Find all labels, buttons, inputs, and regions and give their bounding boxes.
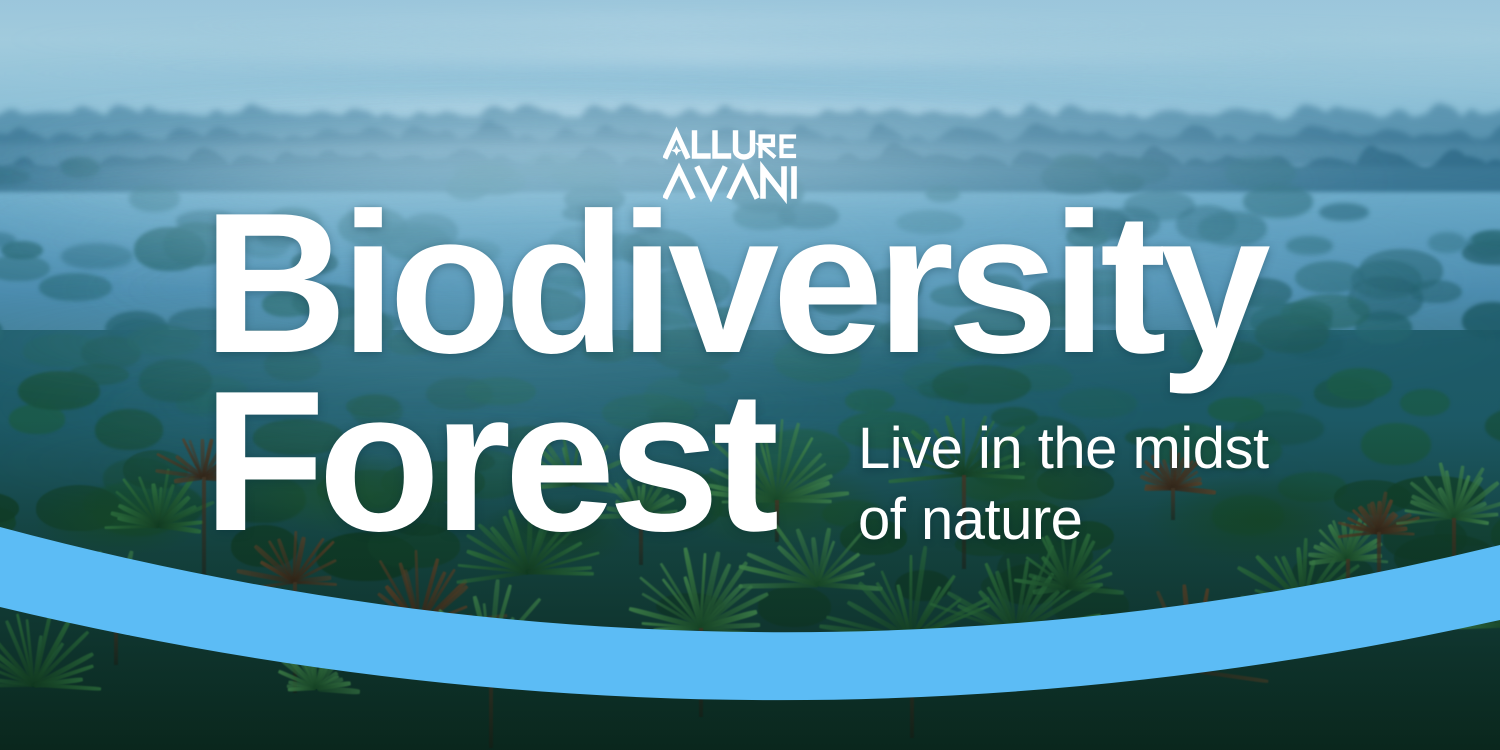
subtitle-line-1: Live in the midst xyxy=(858,414,1269,485)
subtitle-line-2: of nature xyxy=(858,485,1269,556)
banner-content: Biodiversity Forest Live in the midst of… xyxy=(0,0,1500,750)
hero-banner: Biodiversity Forest Live in the midst of… xyxy=(0,0,1500,750)
subtitle: Live in the midst of nature xyxy=(858,414,1269,556)
